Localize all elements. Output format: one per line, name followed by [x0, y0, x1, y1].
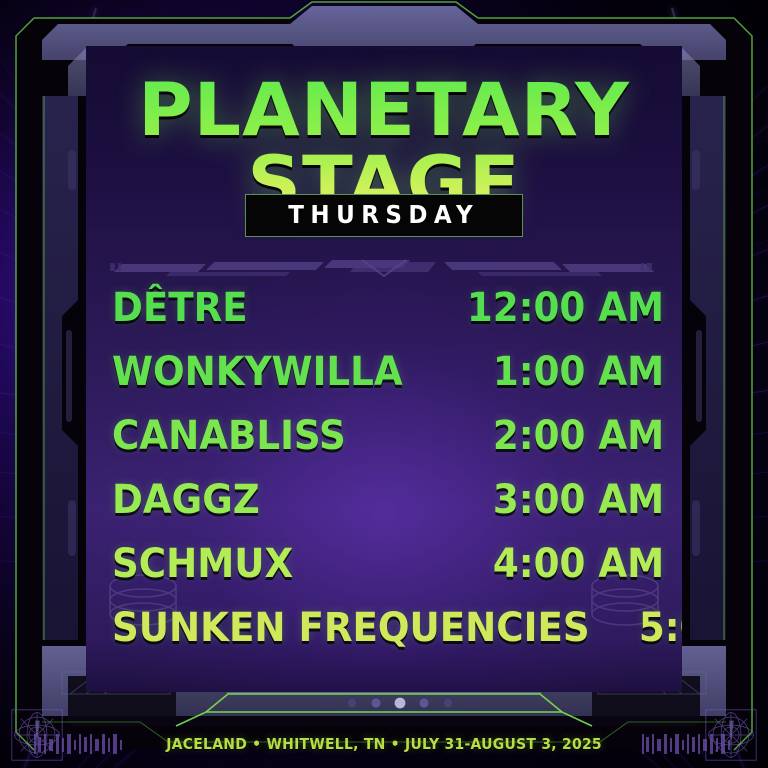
barcode-decor-icon-left [32, 734, 128, 754]
lineup-list: DÊTRE 12:00 AM WONKYWILLA 1:00 AM CANABL… [112, 288, 664, 672]
table-row[interactable]: DAGGZ 3:00 AM [112, 480, 664, 544]
act-name: WONKYWILLA [112, 352, 403, 392]
act-name: SUNKEN FREQUENCIES [112, 608, 590, 648]
set-time: 2:00 AM [493, 416, 664, 456]
content-panel: PLANETARY STAGE THURSDAY [86, 46, 682, 692]
barcode-decor-icon-right [640, 734, 736, 754]
set-time: 4:00 AM [493, 544, 664, 584]
table-row[interactable]: SUNKEN FREQUENCIES 5:00 AM [112, 608, 664, 672]
day-badge-wrap: THURSDAY [86, 194, 682, 237]
set-time: 3:00 AM [493, 480, 664, 520]
act-name: SCHMUX [112, 544, 293, 584]
table-row[interactable]: CANABLISS 2:00 AM [112, 416, 664, 480]
poster-canvas: PLANETARY STAGE THURSDAY [0, 0, 768, 768]
section-divider [110, 254, 658, 280]
set-time: 1:00 AM [493, 352, 664, 392]
footer: JACELAND • WHITWELL, TN • JULY 31-AUGUST… [0, 726, 768, 762]
set-time: 12:00 AM [467, 288, 664, 328]
act-name: DAGGZ [112, 480, 260, 520]
day-badge: THURSDAY [245, 194, 522, 237]
act-name: CANABLISS [112, 416, 346, 456]
footer-info: JACELAND • WHITWELL, TN • JULY 31-AUGUST… [166, 735, 602, 753]
act-name: DÊTRE [112, 288, 248, 328]
table-row[interactable]: WONKYWILLA 1:00 AM [112, 352, 664, 416]
table-row[interactable]: SCHMUX 4:00 AM [112, 544, 664, 608]
set-time: 5:00 AM [638, 608, 682, 648]
day-badge-label: THURSDAY [289, 202, 480, 227]
table-row[interactable]: DÊTRE 12:00 AM [112, 288, 664, 352]
